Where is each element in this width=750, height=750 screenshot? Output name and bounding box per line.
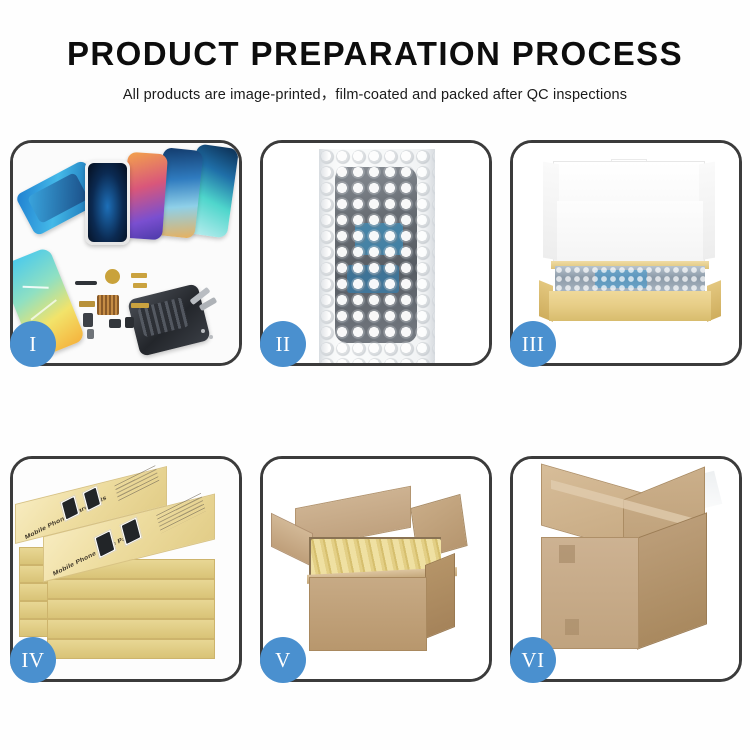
- header: PRODUCT PREPARATION PROCESS All products…: [0, 34, 750, 104]
- step-badge-2: II: [260, 321, 306, 367]
- step-badge-6: VI: [510, 637, 556, 683]
- page-subtitle: All products are image-printed，film-coat…: [0, 83, 750, 104]
- front-glass-icon: [85, 160, 130, 245]
- page-title: PRODUCT PREPARATION PROCESS: [0, 34, 750, 74]
- stack-edge-r3: [47, 599, 215, 619]
- steps-grid: I II: [10, 140, 742, 682]
- screw-2-icon: [209, 335, 213, 339]
- step-panel-3: III: [510, 140, 742, 366]
- carton-front-face: [309, 577, 427, 651]
- box-front-face: [549, 291, 711, 321]
- camera-module-icon: [83, 313, 93, 327]
- stack-edge-r2: [47, 579, 215, 599]
- packed-parts-texture: [555, 266, 705, 292]
- charging-flex-icon: [131, 303, 149, 308]
- wrap-edge-left: [319, 149, 329, 363]
- box-interior: [557, 201, 703, 267]
- bubble-highlight-layer: [319, 149, 435, 363]
- step-badge-1: I: [10, 321, 56, 367]
- step-badge-5: V: [260, 637, 306, 683]
- taptic-coil-icon: [105, 269, 120, 284]
- screw-icon: [201, 329, 205, 333]
- wrap-edge-right: [425, 149, 435, 363]
- sim-tray-icon: [87, 329, 94, 339]
- stack-edge-r4: [47, 619, 215, 639]
- carton-front-face-sealed: [541, 537, 639, 649]
- step-panel-4: Mobile Phone Spare Parts Mobile Phone Sp…: [10, 456, 242, 682]
- button-flex-icon: [79, 301, 95, 307]
- flex-cable-2-icon: [133, 283, 147, 288]
- stack-edge-r5: [47, 639, 215, 659]
- step-panel-5: V: [260, 456, 492, 682]
- box-spec-lines-back: [114, 465, 159, 502]
- screwdriver-icon: [199, 297, 218, 311]
- carton-side-face: [425, 553, 455, 639]
- battery-connector-icon: [109, 319, 121, 328]
- product-preparation-infographic: PRODUCT PREPARATION PROCESS All products…: [0, 0, 750, 750]
- carton-right-face: [637, 512, 707, 649]
- carton-tab-lower: [565, 619, 579, 635]
- carton-tab-upper: [559, 545, 575, 563]
- step-panel-6: VI: [510, 456, 742, 682]
- connector-grid-icon: [97, 295, 119, 315]
- step-badge-4: IV: [10, 637, 56, 683]
- step-badge-3: III: [510, 321, 556, 367]
- flex-cable-icon: [131, 273, 147, 278]
- speaker-mesh-icon: [75, 281, 97, 285]
- step-panel-2: II: [260, 140, 492, 366]
- speaker-icon: [125, 317, 134, 328]
- step-panel-1: I: [10, 140, 242, 366]
